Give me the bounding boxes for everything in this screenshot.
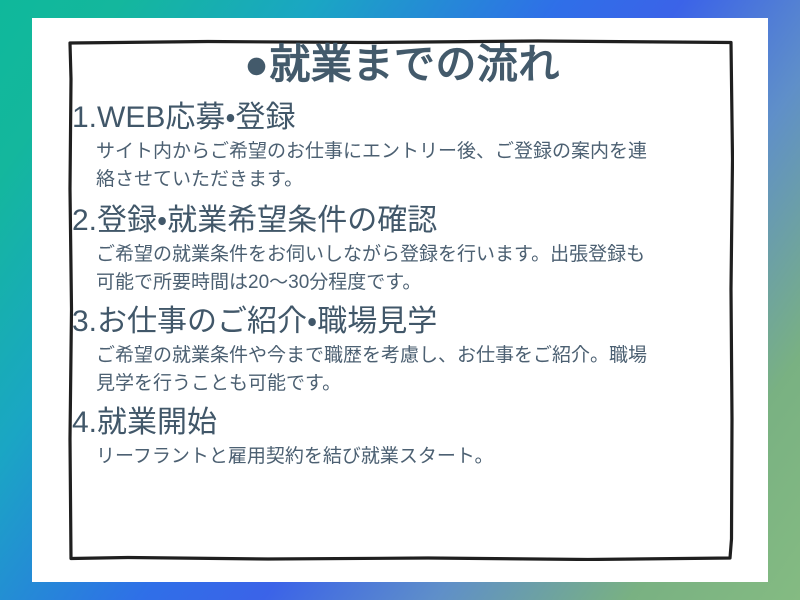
step-3-body-line-2: 見学を行うことも可能です。 [96,370,732,398]
step-2-body-line-2: 可能で所要時間は20〜30分程度です。 [96,269,732,297]
step-4-heading: 4.就業開始 [66,403,738,442]
step-1-heading: 1.WEB応募・登録 [66,98,738,137]
poster-content: ●就業までの流れ 1.WEB応募・登録 サイト内からご希望のお仕事にエントリー後… [44,30,760,570]
step-1-body-line-2: 絡させていただきます。 [96,166,732,194]
page-title: ●就業までの流れ [66,42,738,88]
list-item: 2.登録・就業希望条件の確認 ご希望の就業条件をお伺いしながら登録を行います。出… [66,201,738,296]
steps-list: 1.WEB応募・登録 サイト内からご希望のお仕事にエントリー後、ご登録の案内を連… [66,98,738,471]
step-3-body-line-1: ご希望の就業条件や今まで職歴を考慮し、お仕事をご紹介。職場 [96,342,732,370]
step-2-body: ご希望の就業条件をお伺いしながら登録を行います。出張登録も 可能で所要時間は20… [66,241,738,296]
step-2-body-line-1: ご希望の就業条件をお伺いしながら登録を行います。出張登録も [96,241,732,269]
step-3-heading: 3.お仕事のご紹介・職場見学 [66,302,738,341]
poster-root: ●就業までの流れ 1.WEB応募・登録 サイト内からご希望のお仕事にエントリー後… [0,0,800,600]
list-item: 3.お仕事のご紹介・職場見学 ご希望の就業条件や今まで職歴を考慮し、お仕事をご紹… [66,302,738,397]
step-4-body: リーフラントと雇用契約を結び就業スタート。 [66,443,738,471]
step-1-body-line-1: サイト内からご希望のお仕事にエントリー後、ご登録の案内を連 [96,138,732,166]
step-3-body: ご希望の就業条件や今まで職歴を考慮し、お仕事をご紹介。職場 見学を行うことも可能… [66,342,738,397]
list-item: 1.WEB応募・登録 サイト内からご希望のお仕事にエントリー後、ご登録の案内を連… [66,98,738,193]
step-1-body: サイト内からご希望のお仕事にエントリー後、ご登録の案内を連 絡させていただきます… [66,138,738,193]
step-2-heading: 2.登録・就業希望条件の確認 [66,201,738,240]
list-item: 4.就業開始 リーフラントと雇用契約を結び就業スタート。 [66,403,738,471]
step-4-body-line-1: リーフラントと雇用契約を結び就業スタート。 [96,443,732,471]
